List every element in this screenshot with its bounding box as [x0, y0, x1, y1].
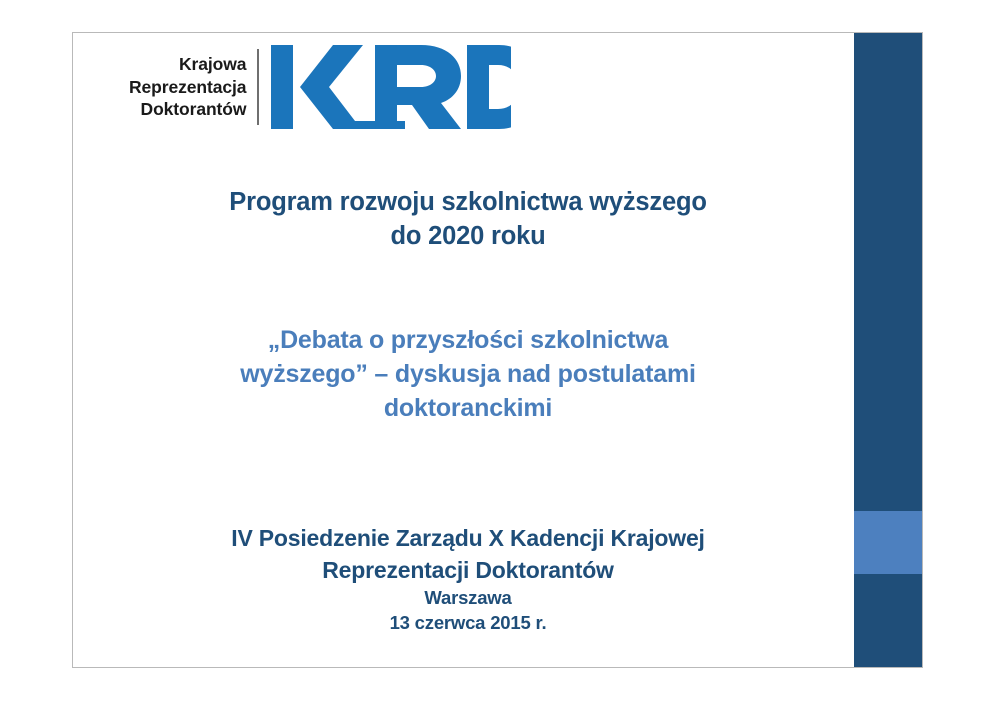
title-line-1: Program rozwoju szkolnictwa wyższego [73, 185, 863, 219]
slide-event-info: IV Posiedzenie Zarządu X Kadencji Krajow… [73, 523, 863, 635]
event-city: Warszawa [73, 586, 863, 610]
krd-wordmark-icon [271, 43, 511, 131]
org-name-line-2: Reprezentacja [129, 76, 246, 99]
event-line-2: Reprezentacji Doktorantów [73, 555, 863, 587]
event-date: 13 czerwca 2015 r. [73, 611, 863, 635]
logo-divider-rule [257, 49, 259, 125]
subtitle-line-3: doktoranckimi [73, 391, 863, 425]
slide-subtitle: „Debata o przyszłości szkolnictwa wyższe… [73, 323, 863, 425]
sidebar-dark-band-bottom [854, 574, 922, 667]
org-name-line-1: Krajowa [129, 53, 246, 76]
slide-title: Program rozwoju szkolnictwa wyższego do … [73, 185, 863, 253]
event-line-1: IV Posiedzenie Zarządu X Kadencji Krajow… [73, 523, 863, 555]
krd-logo: Krajowa Reprezentacja Doktorantów [129, 43, 511, 131]
title-line-2: do 2020 roku [73, 219, 863, 253]
sidebar-light-band [854, 511, 922, 574]
slide-sidebar-accent [854, 33, 922, 667]
org-name-line-3: Doktorantów [129, 98, 246, 121]
subtitle-line-1: „Debata o przyszłości szkolnictwa [73, 323, 863, 357]
subtitle-line-2: wyższego” – dyskusja nad postulatami [73, 357, 863, 391]
organization-name: Krajowa Reprezentacja Doktorantów [129, 53, 246, 121]
presentation-slide: Krajowa Reprezentacja Doktorantów [72, 32, 923, 668]
